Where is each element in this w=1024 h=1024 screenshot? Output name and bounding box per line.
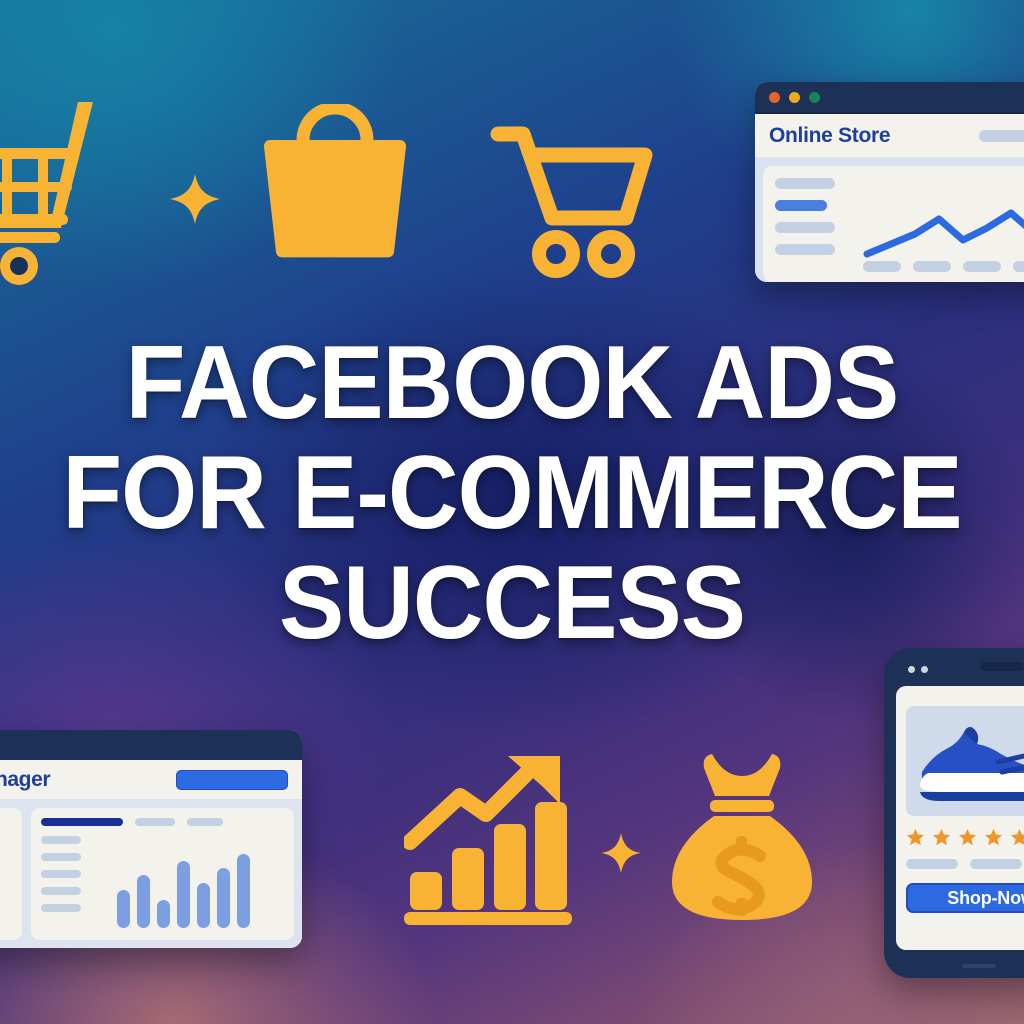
sidebar-row-1-active[interactable] — [775, 200, 827, 211]
minimize-icon[interactable] — [789, 92, 800, 103]
star-icon — [984, 828, 1003, 847]
home-indicator — [962, 964, 996, 968]
ads-header: o z manager — [0, 760, 302, 800]
store-sidebar[interactable] — [775, 178, 849, 282]
header-tab-2[interactable] — [187, 818, 223, 826]
shopping-cart-grid-icon — [0, 96, 192, 286]
rating-stars — [906, 828, 1024, 847]
bar-6 — [237, 854, 250, 928]
axis-chip-3 — [1013, 261, 1024, 272]
header-tab-active[interactable] — [41, 818, 123, 826]
phone-mockup[interactable]: Shop-Now — [884, 648, 1024, 978]
store-header: Online Store — [755, 114, 1024, 158]
star-icon — [906, 828, 925, 847]
axis-chip-0 — [863, 261, 901, 272]
phone-screen: Shop-Now — [896, 686, 1024, 950]
shop-now-button[interactable]: Shop-Now — [906, 883, 1024, 913]
menu-row-2[interactable] — [41, 870, 81, 878]
axis-chip-2 — [963, 261, 1001, 272]
axis-chip-1 — [913, 261, 951, 272]
sidebar-row-3[interactable] — [775, 244, 835, 255]
store-body — [755, 158, 1024, 282]
browser-titlebar-controls — [755, 82, 1024, 114]
camera-icon — [908, 666, 915, 673]
line-chart-svg — [863, 200, 1024, 262]
product-image[interactable] — [906, 706, 1024, 816]
meta-chip-1 — [970, 859, 1022, 869]
store-title: Online Store — [769, 124, 890, 148]
store-line-chart — [863, 178, 1024, 282]
ads-primary-button[interactable] — [176, 770, 288, 790]
star-icon — [1010, 828, 1024, 847]
ads-main-pane — [31, 808, 294, 940]
speaker-icon — [980, 662, 1024, 671]
sidebar-row-2[interactable] — [775, 222, 835, 233]
bar-0 — [117, 890, 130, 928]
running-shoe-icon — [906, 706, 1024, 816]
bar-5 — [217, 868, 230, 928]
ads-body — [0, 800, 302, 948]
product-meta-chips — [906, 859, 1024, 869]
maximize-icon[interactable] — [809, 92, 820, 103]
ads-titlebar-controls — [0, 730, 302, 760]
ads-menu-list[interactable] — [41, 836, 103, 930]
bar-4 — [197, 883, 210, 928]
ads-left-pane[interactable] — [0, 808, 22, 940]
ads-content — [41, 836, 284, 930]
menu-row-1[interactable] — [41, 853, 81, 861]
bar-1 — [137, 875, 150, 928]
meta-chip-0 — [906, 859, 958, 869]
star-icon — [932, 828, 951, 847]
browser-window-online-store[interactable]: Online Store — [755, 82, 1024, 282]
bar-3 — [177, 861, 190, 928]
store-dashboard-card — [763, 166, 1024, 282]
money-bag-dollar-icon — [672, 752, 812, 920]
browser-window-ads-manager[interactable]: o z manager — [0, 730, 302, 948]
menu-row-4[interactable] — [41, 904, 81, 912]
ads-pane-header — [41, 818, 284, 826]
star-icon — [958, 828, 977, 847]
menu-row-0[interactable] — [41, 836, 81, 844]
ads-bar-chart — [117, 836, 284, 930]
bar-2 — [157, 900, 170, 928]
header-tab-1[interactable] — [135, 818, 175, 826]
sparkle-icon — [600, 832, 642, 874]
sparkle-icon — [168, 172, 222, 226]
close-icon[interactable] — [769, 92, 780, 103]
ads-manager-title: o z manager — [0, 768, 50, 792]
menu-row-3[interactable] — [41, 887, 81, 895]
store-header-action-pill[interactable] — [979, 130, 1024, 142]
shopping-bag-icon — [262, 104, 408, 260]
chart-axis-chips — [863, 261, 1024, 272]
growth-chart-arrow-icon — [404, 752, 572, 930]
sensor-icon — [921, 666, 928, 673]
shopping-cart-outline-icon — [490, 122, 656, 282]
sidebar-row-0[interactable] — [775, 178, 835, 189]
